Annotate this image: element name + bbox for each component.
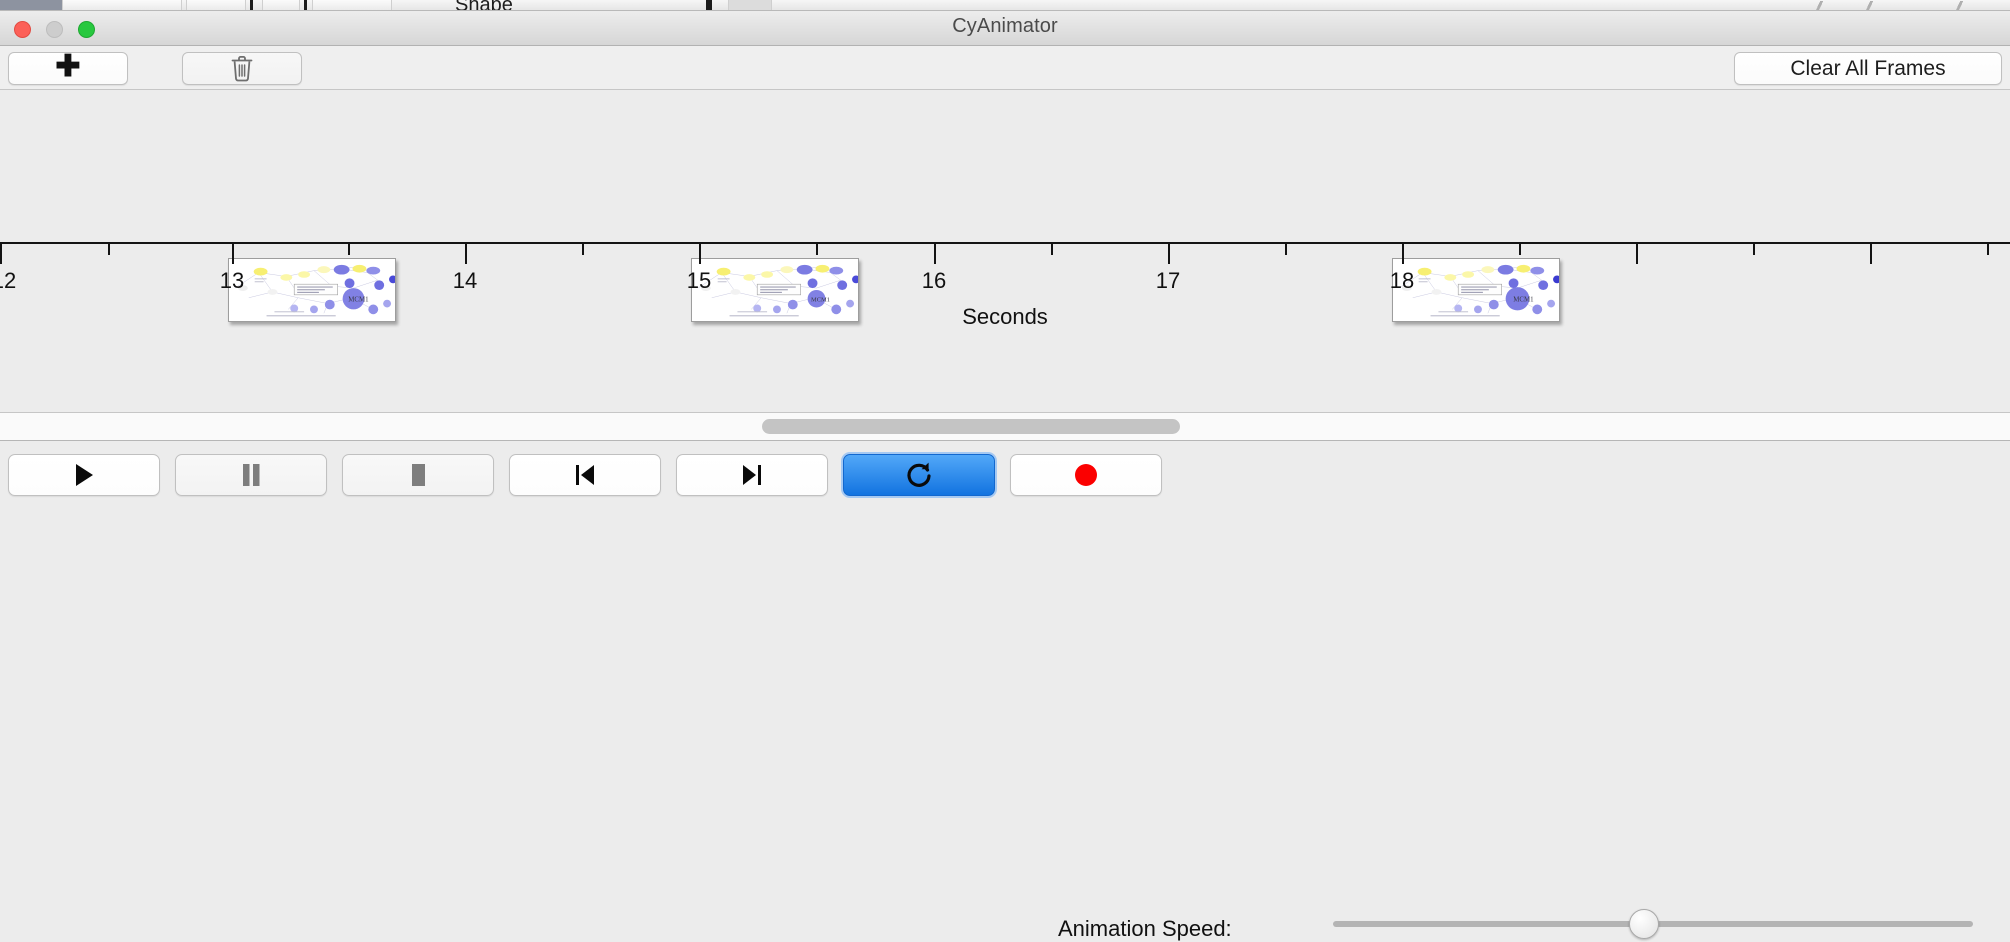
slider-knob[interactable] xyxy=(1629,909,1659,939)
timeline-horizontal-scrollbar[interactable] xyxy=(0,413,2010,441)
play-icon xyxy=(71,461,97,489)
ruler-tick-major xyxy=(0,244,2,264)
ruler-tick-minor xyxy=(1987,244,1989,255)
ruler-label: 12 xyxy=(0,268,16,294)
ruler-tick-major xyxy=(1168,244,1170,264)
toolbar: ✚ Clear All Frames xyxy=(0,46,2010,90)
timeline-panel[interactable]: MCM1 xyxy=(0,90,2010,413)
record-button[interactable] xyxy=(1010,454,1162,496)
play-button[interactable] xyxy=(8,454,160,496)
clear-all-frames-button[interactable]: Clear All Frames xyxy=(1734,52,2002,85)
bg-slash-3 xyxy=(1952,1,1966,10)
skip-back-icon xyxy=(571,461,599,489)
ruler-unit-label: Seconds xyxy=(0,304,2010,330)
ruler-tick-major xyxy=(1870,244,1872,264)
ruler-tick-minor xyxy=(1753,244,1755,255)
loop-icon xyxy=(904,460,934,490)
clear-all-frames-label: Clear All Frames xyxy=(1790,57,1945,81)
ruler-tick-minor xyxy=(1051,244,1053,255)
skip-to-end-button[interactable] xyxy=(676,454,828,496)
background-window-strip: Shape xyxy=(0,0,2010,11)
skip-to-start-button[interactable] xyxy=(509,454,661,496)
trash-icon xyxy=(230,56,254,82)
ruler-tick-minor xyxy=(1285,244,1287,255)
delete-frame-button[interactable] xyxy=(182,52,302,85)
title-bar: CyAnimator xyxy=(0,11,2010,46)
bg-tick-2 xyxy=(304,0,307,11)
stop-icon xyxy=(405,461,431,489)
bg-seg-dark xyxy=(0,0,62,11)
ruler-label: 13 xyxy=(220,268,244,294)
bg-seg-5 xyxy=(728,0,772,11)
loop-button[interactable] xyxy=(843,454,995,496)
ruler-label: 17 xyxy=(1156,268,1180,294)
bg-seg-2 xyxy=(186,0,246,11)
animation-speed-slider[interactable] xyxy=(1333,921,1973,927)
ruler-tick-minor xyxy=(816,244,818,255)
ruler-tick-minor xyxy=(348,244,350,255)
bg-seg-4 xyxy=(312,0,392,11)
bg-slash-2 xyxy=(1862,1,1876,10)
bg-shape-label: Shape xyxy=(455,0,513,11)
ruler-tick-major xyxy=(1402,244,1404,264)
ruler-tick-major xyxy=(934,244,936,264)
pause-icon xyxy=(238,461,264,489)
bg-seg-1 xyxy=(62,0,182,11)
bg-tick-1 xyxy=(250,0,253,11)
ruler-label: 18 xyxy=(1390,268,1414,294)
ruler-tick-major xyxy=(465,244,467,264)
skip-forward-icon xyxy=(738,461,766,489)
ruler-tick-major xyxy=(1636,244,1638,264)
ruler-tick-major xyxy=(232,244,234,264)
add-frame-button[interactable]: ✚ xyxy=(8,52,128,85)
window-title: CyAnimator xyxy=(0,15,2010,38)
ruler-label: 16 xyxy=(922,268,946,294)
record-icon xyxy=(1072,461,1100,489)
ruler-axis-line xyxy=(0,242,2010,244)
ruler-tick-minor xyxy=(108,244,110,255)
playback-controls-bar: Animation Speed: xyxy=(0,441,2010,510)
stop-button[interactable] xyxy=(342,454,494,496)
scrollbar-thumb[interactable] xyxy=(762,419,1180,434)
ruler-label: 14 xyxy=(453,268,477,294)
ruler-tick-minor xyxy=(582,244,584,255)
timeline-ruler[interactable]: 12 13 14 15 16 17 18 Seconds xyxy=(0,242,2010,337)
animation-speed-label: Animation Speed: xyxy=(1058,916,1232,942)
bg-seg-3 xyxy=(262,0,300,11)
ruler-label: 15 xyxy=(687,268,711,294)
bg-tick-3 xyxy=(706,0,712,11)
ruler-tick-major xyxy=(699,244,701,264)
pause-button[interactable] xyxy=(175,454,327,496)
bg-slash-1 xyxy=(1812,1,1826,10)
ruler-tick-minor xyxy=(1519,244,1521,255)
plus-icon: ✚ xyxy=(55,52,80,82)
